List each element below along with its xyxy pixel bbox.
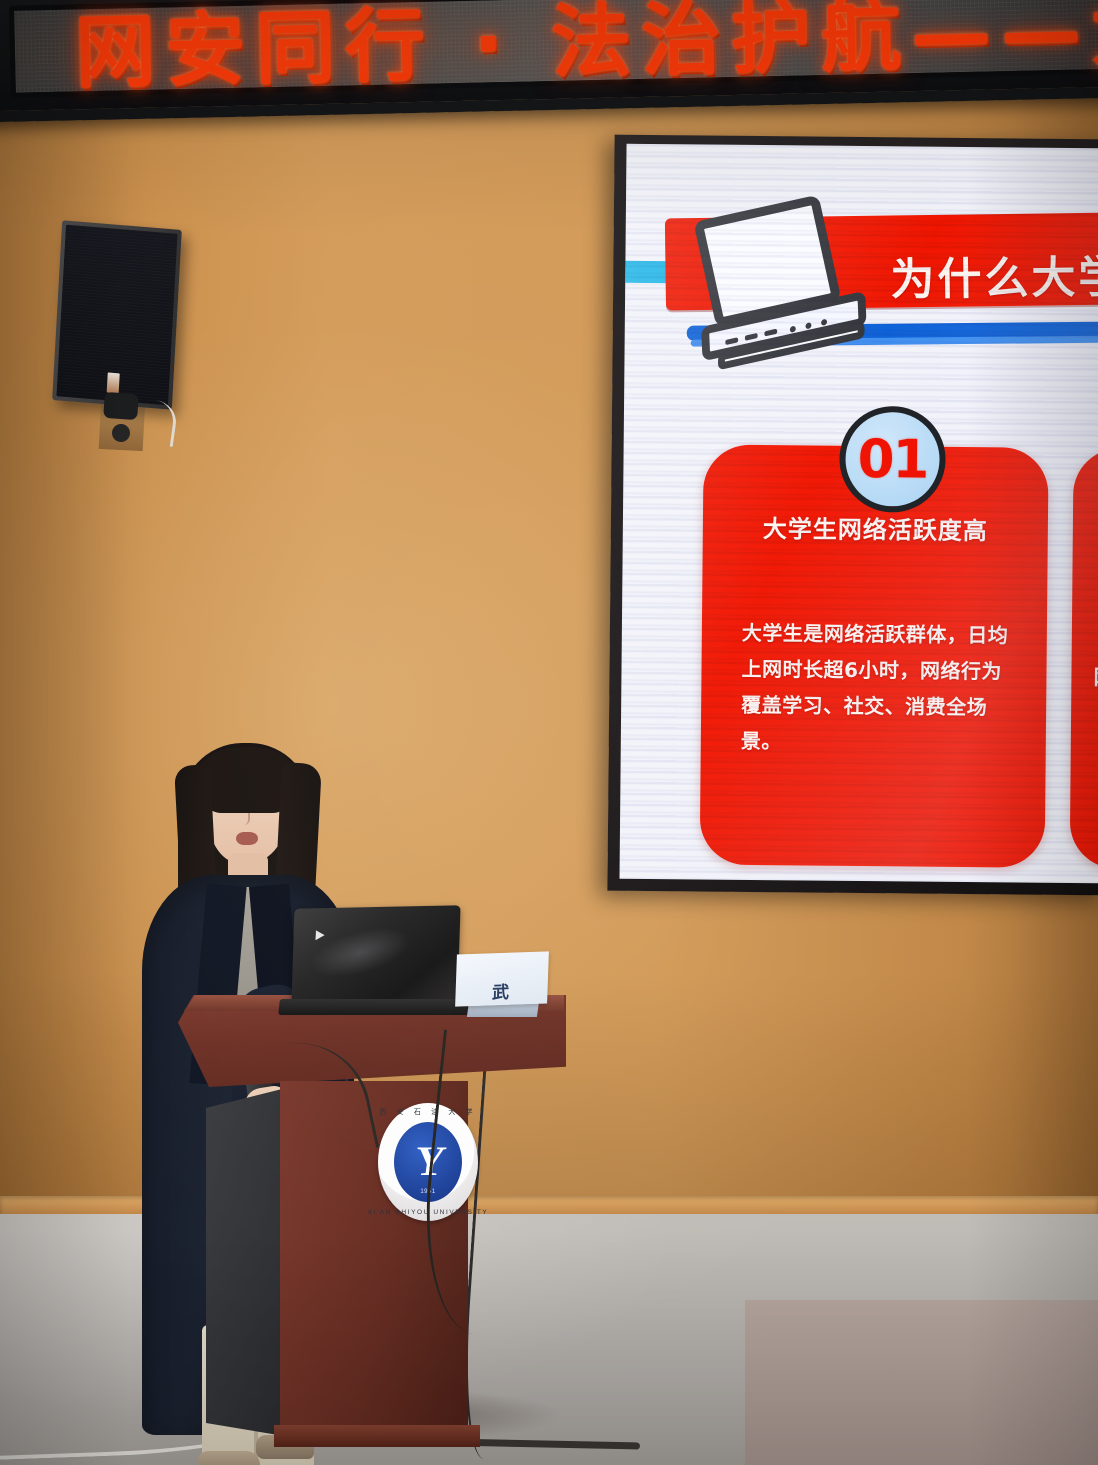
- name-card: 武: [455, 951, 549, 1006]
- mouth: [236, 832, 258, 845]
- projection-screen-frame: 为什么大学 大学生网络活跃度高 大学生是网络活跃群体，日均上网: [607, 135, 1098, 896]
- slide-card-1-badge: 01: [839, 406, 946, 513]
- podium: 武 西 安 石 油 大 学 Y 1951 XI'AN SHIYOU UNIVER…: [178, 995, 568, 1455]
- name-card-text: 武: [492, 978, 512, 1004]
- lecture-hall-scene: 网安同行 · 法治护航——大学 为什么大学: [0, 0, 1098, 1465]
- slide-card-2: 网 言: [1070, 448, 1098, 871]
- laptop-doodle-icon: [693, 195, 841, 328]
- slide-card-1-title: 大学生网络活跃度高: [703, 508, 1048, 546]
- podium-base: [274, 1425, 480, 1447]
- wall-speaker: [52, 220, 182, 410]
- laptop-lid-gleam: [308, 910, 438, 999]
- slide-card-1-badge-number: 01: [857, 428, 927, 490]
- floor-mat: [745, 1300, 1098, 1465]
- laptop-device[interactable]: [293, 907, 465, 1007]
- laptop-deck: [278, 999, 476, 1015]
- slide-card-2-body: 网 言: [1093, 658, 1098, 699]
- projection-screen: 为什么大学 大学生网络活跃度高 大学生是网络活跃群体，日均上网: [619, 144, 1098, 884]
- laptop-lid: [291, 905, 460, 1004]
- slide-card-1-body: 大学生是网络活跃群体，日均上网时长超6小时，网络行为覆盖学习、社交、消费全场景。: [741, 615, 1011, 762]
- slide-title: 为什么大学: [890, 241, 1098, 308]
- speaker-brand-badge: [107, 372, 120, 393]
- led-panel: 网安同行 · 法治护航——大学: [9, 0, 1098, 98]
- led-banner-text: 网安同行 · 法治护航——大学: [74, 0, 1098, 101]
